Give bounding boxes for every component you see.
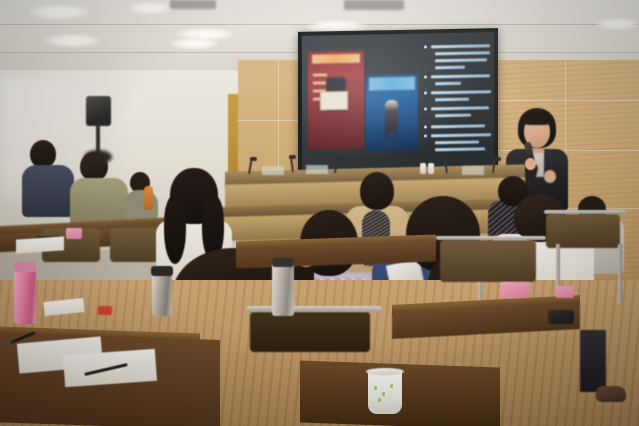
slide-bullet-text-line [431, 44, 490, 48]
ceiling-downlight [44, 34, 100, 47]
chair-rail [436, 236, 546, 240]
slide-bullet-list: 讲师简介：工商管理、企业管理双硕士学位 获省市青年教师教学基本功比赛一等奖 全国… [424, 40, 492, 165]
projection-screen-surface: 讲师简介：工商管理、企业管理双硕士学位 获省市青年教师教学基本功比赛一等奖 全国… [302, 32, 494, 170]
cup-leaf-print [378, 398, 381, 402]
slide-bullet-3: 市级骨干教师、信息化教学人才 [424, 41, 425, 42]
gooseneck-microphone-head [250, 157, 257, 161]
pink-notebook [556, 286, 574, 298]
slide-bullet-text-line [431, 124, 485, 128]
slide-bullet-text-line [435, 82, 461, 85]
chair-leg [618, 244, 622, 304]
attendee-torso [22, 165, 74, 217]
slide-photo-certificate [320, 91, 348, 111]
slide-bullet-text-line [435, 140, 479, 143]
ceiling-vent [344, 0, 404, 10]
slide-award-photo [308, 51, 364, 150]
name-card [462, 166, 484, 175]
pink-notebook [66, 228, 82, 239]
ceiling-downlight [596, 18, 639, 30]
name-card [262, 166, 284, 175]
lecture-hall-photo: 讲师简介：工商管理、企业管理双硕士学位 获省市青年教师教学基本功比赛一等奖 全国… [0, 0, 639, 426]
slide-conference-photo [366, 74, 418, 151]
projection-screen: 讲师简介：工商管理、企业管理双硕士学位 获省市青年教师教学基本功比赛一等奖 全国… [298, 28, 498, 174]
thermos-steel-left [152, 272, 172, 316]
thermos-lid [272, 258, 294, 267]
slide-photo-caption-line [313, 81, 327, 84]
thermos-flask [272, 262, 294, 316]
ceiling-downlight [128, 2, 172, 14]
auditorium-chair [546, 214, 620, 248]
slide-bullet-1: 获省市青年教师教学基本功比赛一等奖 [424, 41, 425, 42]
cup-leaf-print [382, 392, 385, 396]
thermos-lid [151, 266, 173, 276]
slide-bullet-text-line [435, 51, 490, 55]
attendee-head [360, 172, 394, 210]
paper-cup [368, 370, 402, 414]
slide-bullet-2: 全国职业院校信息化教学大赛二等奖 [424, 41, 425, 42]
gooseneck-microphone-head [289, 155, 296, 159]
slide-bullet-5: 多门在线开放课程主讲教师 [424, 41, 425, 42]
slide-bullet-text-line [435, 98, 469, 101]
thermos-orange [144, 186, 153, 210]
ceiling-vent [170, 0, 216, 9]
slide-bullet-text-line [435, 66, 465, 69]
cup-leaf-print [390, 384, 393, 388]
water-bottle [420, 163, 426, 174]
wall-mounted-loudspeaker [86, 96, 111, 126]
chair-rail [544, 210, 626, 214]
attendee-shoe [596, 386, 626, 402]
gooseneck-microphone-head [494, 157, 501, 161]
gooseneck-microphone-head [336, 157, 343, 161]
chair-rail [246, 306, 382, 312]
slide-bullet-marker [424, 107, 427, 110]
slide-bullet-text-line [431, 133, 491, 137]
attendee-head [30, 140, 56, 168]
slide-bullet-text-line [431, 90, 491, 94]
ceiling-downlight [176, 28, 234, 40]
ceiling-downlight [28, 4, 90, 20]
slide-photo-headline-band [369, 77, 415, 91]
water-bottle [428, 163, 434, 174]
thermos-pink [14, 268, 36, 324]
slide-bullet-4: 省级教学能力大赛评委 [424, 41, 425, 42]
cup-leaf-print [374, 386, 377, 390]
pink-notebook [500, 282, 530, 298]
auditorium-chair [250, 312, 370, 352]
slide-bullet-text-line [435, 58, 487, 62]
auditorium-chair [440, 240, 536, 282]
slide-bullet-text-line [431, 106, 489, 110]
slide-photo-banner [312, 54, 360, 64]
slide-photo-caption-line [313, 73, 327, 76]
slide-bullet-text-line [435, 114, 471, 117]
attendee-head [80, 152, 108, 181]
presenter-hand [544, 170, 556, 183]
paper-cup-rim [366, 368, 404, 375]
name-card [306, 165, 328, 174]
attendee-hair-fall [164, 196, 186, 264]
slide-bullet-0: 讲师简介：工商管理、企业管理双硕士学位 [424, 41, 425, 42]
gooseneck-microphone-head [443, 156, 450, 160]
red-marker [98, 306, 112, 315]
slide-bullet-text-line [435, 147, 485, 151]
presenter-hand [525, 158, 536, 170]
slide-bullet-marker [424, 75, 427, 78]
slide-bullet-text-line [431, 74, 490, 78]
slide-bullet-marker [424, 91, 427, 94]
presenter-fringe [521, 112, 553, 125]
slide-bullet-marker [424, 125, 427, 128]
slide-bullet-marker [424, 134, 427, 137]
thermos-lid [14, 262, 36, 272]
attendee-torso [70, 178, 128, 226]
slide-bullet-marker [424, 45, 427, 48]
attendee-leg [580, 330, 606, 392]
smartphone [548, 310, 574, 324]
slide-photo-podium [386, 132, 397, 148]
